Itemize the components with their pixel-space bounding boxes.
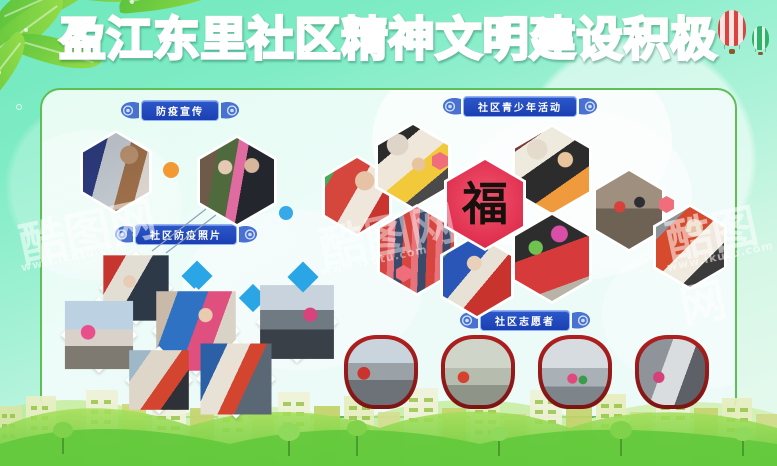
section-banner-label: 社区志愿者 xyxy=(480,310,570,331)
photo-frame xyxy=(441,335,515,409)
photo-image xyxy=(445,339,511,405)
photo-image: 福 xyxy=(447,160,523,248)
photo-image xyxy=(515,127,589,213)
photo-frame xyxy=(538,335,612,409)
photo-volunteer-gate[interactable] xyxy=(441,335,515,409)
hot-air-balloon-red-icon xyxy=(718,10,746,54)
hot-air-balloon-green-icon xyxy=(752,26,769,55)
ornament-right-icon xyxy=(570,310,592,331)
photo-image xyxy=(65,301,133,369)
poster-title-area: 盈江东里社区精神文明建设积极 xyxy=(0,12,777,72)
diagonal-accent-lines xyxy=(150,205,220,255)
photo-image xyxy=(443,236,511,316)
photo-frame xyxy=(635,335,709,409)
photo-image xyxy=(542,339,608,405)
photo-nucleic-acid-test[interactable] xyxy=(196,339,275,418)
leaf-dew-dot xyxy=(16,104,22,110)
photo-image xyxy=(348,339,414,405)
photo-volunteer-cleanup[interactable] xyxy=(538,335,612,409)
photo-image xyxy=(656,207,724,287)
section-banner-fangyi-xuanchuan[interactable]: 防疫宣传 xyxy=(119,100,241,121)
ornament-right-icon xyxy=(219,100,241,121)
photo-image xyxy=(639,339,705,405)
ornament-left-icon xyxy=(119,100,141,121)
photo-image xyxy=(515,215,589,301)
section-banner-qingshaonian-huodong[interactable]: 社区青少年活动 xyxy=(441,96,599,117)
photo-volunteer-street[interactable] xyxy=(344,335,418,409)
photo-residents-queue[interactable] xyxy=(61,297,137,373)
photo-image xyxy=(129,350,189,410)
ornament-right-icon xyxy=(237,224,259,245)
accent-dot-orange xyxy=(163,162,179,178)
section-banner-label: 防疫宣传 xyxy=(141,100,219,121)
ornament-left-icon xyxy=(113,224,135,245)
ornament-left-icon xyxy=(441,96,463,117)
photo-image xyxy=(83,133,149,211)
page-title: 盈江东里社区精神文明建设积极 xyxy=(60,12,718,66)
section-banner-label: 社区青少年活动 xyxy=(463,96,577,117)
photo-frame xyxy=(344,335,418,409)
ornament-right-icon xyxy=(577,96,599,117)
fu-character: 福 xyxy=(462,181,508,227)
photo-volunteer-bus-stop[interactable] xyxy=(635,335,709,409)
accent-dot-blue xyxy=(279,206,293,220)
photo-image xyxy=(201,344,272,415)
photo-supplies-distribution[interactable] xyxy=(125,346,193,414)
photo-image xyxy=(596,171,662,249)
